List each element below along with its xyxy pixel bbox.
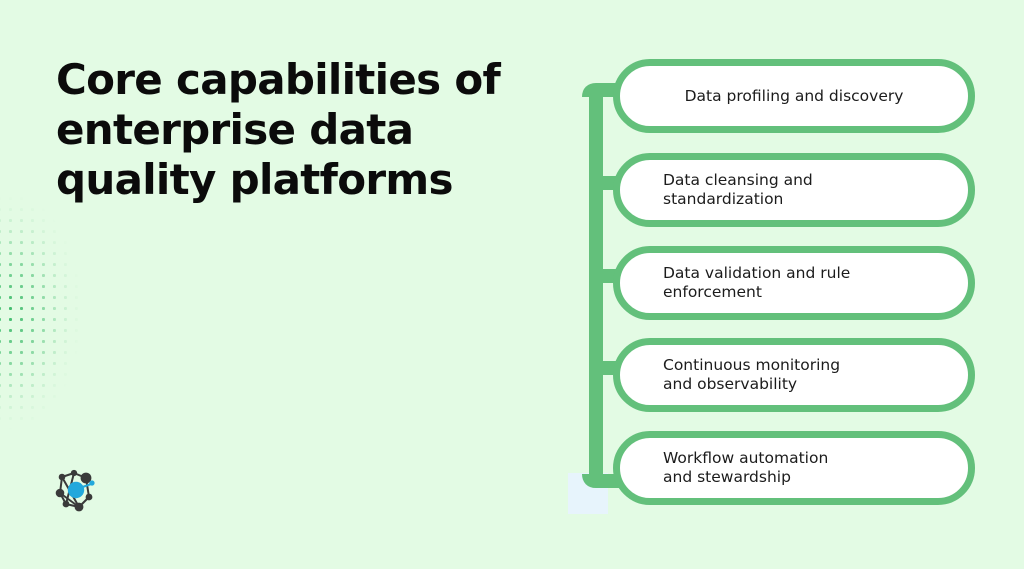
capability-card-3-label: Data validation and rule enforcement [620, 264, 850, 302]
capability-card-3[interactable]: Data validation and rule enforcement [613, 246, 975, 320]
page-title: Core capabilities of enterprise data qua… [56, 55, 526, 205]
capability-card-2[interactable]: Data cleansing and standardization [613, 153, 975, 227]
capability-card-4-label: Continuous monitoring and observability [620, 356, 840, 394]
capability-card-2-label: Data cleansing and standardization [620, 171, 813, 209]
capability-card-1-label: Data profiling and discovery [685, 87, 904, 106]
capability-card-5-label: Workflow automation and stewardship [620, 449, 828, 487]
network-graph-logo [53, 466, 101, 514]
capability-card-1[interactable]: Data profiling and discovery [613, 59, 975, 133]
capability-card-4[interactable]: Continuous monitoring and observability [613, 338, 975, 412]
slide-canvas: Core capabilities of enterprise data qua… [0, 0, 1024, 569]
capability-card-5[interactable]: Workflow automation and stewardship [613, 431, 975, 505]
halftone-dot-pattern [0, 160, 126, 460]
decorative-blue-square [568, 473, 608, 514]
